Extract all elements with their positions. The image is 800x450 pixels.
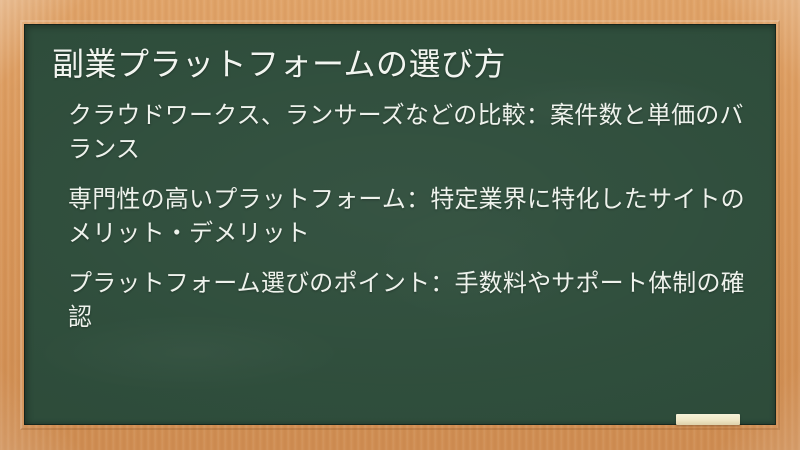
bullet-item-1: クラウドワークス、ランサーズなどの比較：案件数と単価のバランス bbox=[48, 98, 752, 166]
bullet-item-3: プラットフォーム選びのポイント：手数料やサポート体制の確認 bbox=[48, 266, 752, 334]
chalkboard-slide: 副業プラットフォームの選び方 クラウドワークス、ランサーズなどの比較：案件数と単… bbox=[0, 0, 800, 450]
slide-content: 副業プラットフォームの選び方 クラウドワークス、ランサーズなどの比較：案件数と単… bbox=[24, 24, 776, 425]
bullet-list: クラウドワークス、ランサーズなどの比較：案件数と単価のバランス 専門性の高いプラ… bbox=[48, 98, 752, 334]
chalk-stick-icon bbox=[676, 414, 740, 425]
slide-title: 副業プラットフォームの選び方 bbox=[52, 44, 752, 84]
chalkboard-surface: 副業プラットフォームの選び方 クラウドワークス、ランサーズなどの比較：案件数と単… bbox=[24, 24, 776, 425]
bullet-item-2: 専門性の高いプラットフォーム：特定業界に特化したサイトのメリット・デメリット bbox=[48, 182, 752, 250]
